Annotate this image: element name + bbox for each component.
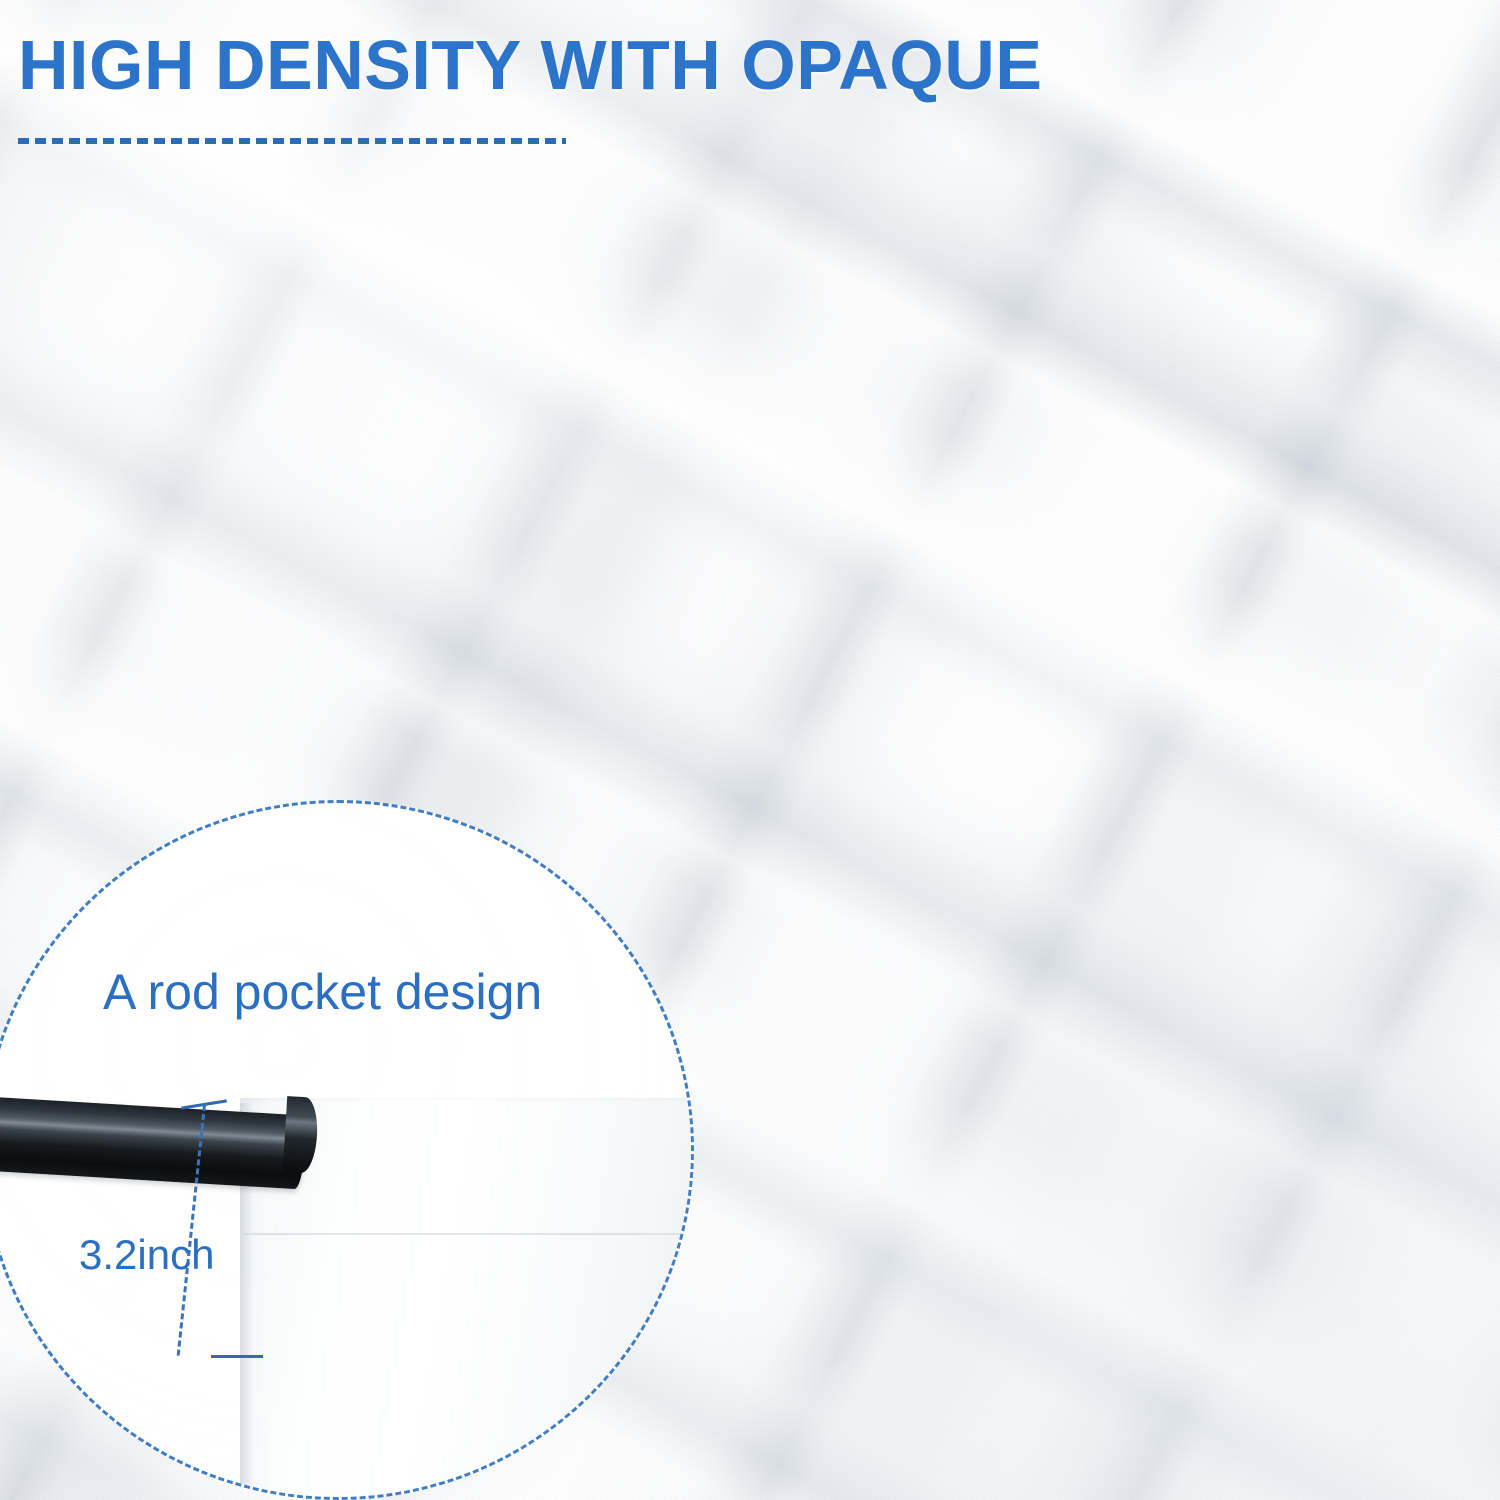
rod-pocket-callout-circle: A rod pocket design 3.2inch <box>0 800 694 1500</box>
dimension-value-label: 3.2inch <box>79 1231 214 1279</box>
rod-pocket-seam <box>243 1233 694 1235</box>
dimension-tick-bottom-icon <box>211 1355 263 1358</box>
callout-label: A rod pocket design <box>103 963 542 1021</box>
headline-dashed-rule <box>18 138 566 144</box>
product-feature-image: HIGH DENSITY WITH OPAQUE A rod pocket de… <box>0 0 1500 1500</box>
headline-title: HIGH DENSITY WITH OPAQUE <box>18 28 1042 102</box>
